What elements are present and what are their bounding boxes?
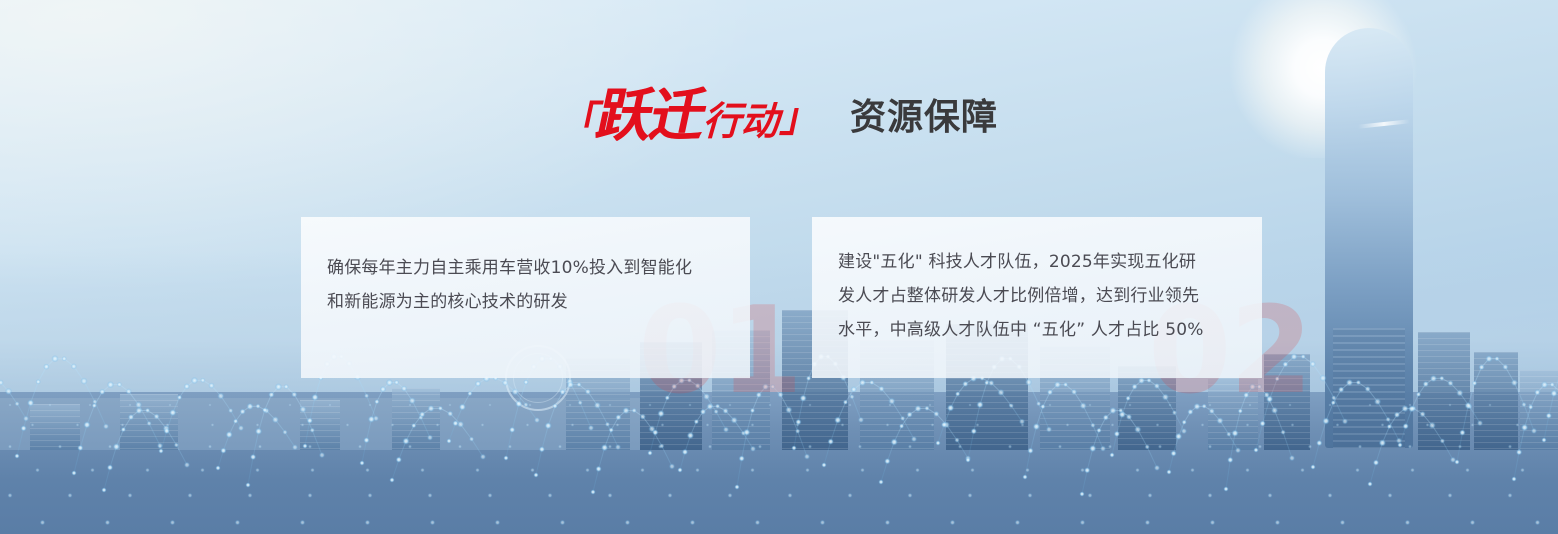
content-card-02: 建设"五化" 科技人才队伍，2025年实现五化研 发人才占整体研发人才比例倍增，… [812,217,1262,378]
page-title: 资源保障 [850,88,998,140]
building-block [300,400,340,450]
building-block [392,388,440,450]
slide-header: 「 跃迁 行动 」 资源保障 [0,88,1558,142]
logo-secondary-text: 行动 [700,102,787,141]
building-block [120,394,178,450]
building-block [30,404,80,450]
content-card-01: 确保每年主力自主乘用车营收10%投入到智能化 和新能源为主的核心技术的研发 [301,217,750,378]
slide-canvas: 01 02 「 跃迁 行动 」 资源保障 确保每年主力自主乘用车营收10%投入到… [0,0,1558,534]
logo-close-bracket: 」 [778,98,825,138]
logo-primary-text: 跃迁 [592,90,709,144]
building-block [1474,352,1518,450]
content-card-01-text: 确保每年主力自主乘用车营收10%投入到智能化 和新能源为主的核心技术的研发 [327,251,724,319]
program-logo: 「 跃迁 行动 」 [560,91,820,142]
building-block [1418,332,1470,450]
content-card-list: 确保每年主力自主乘用车营收10%投入到智能化 和新能源为主的核心技术的研发 建设… [301,217,1262,378]
content-card-02-text: 建设"五化" 科技人才队伍，2025年实现五化研 发人才占整体研发人才比例倍增，… [838,245,1236,347]
building-block [1520,370,1558,450]
